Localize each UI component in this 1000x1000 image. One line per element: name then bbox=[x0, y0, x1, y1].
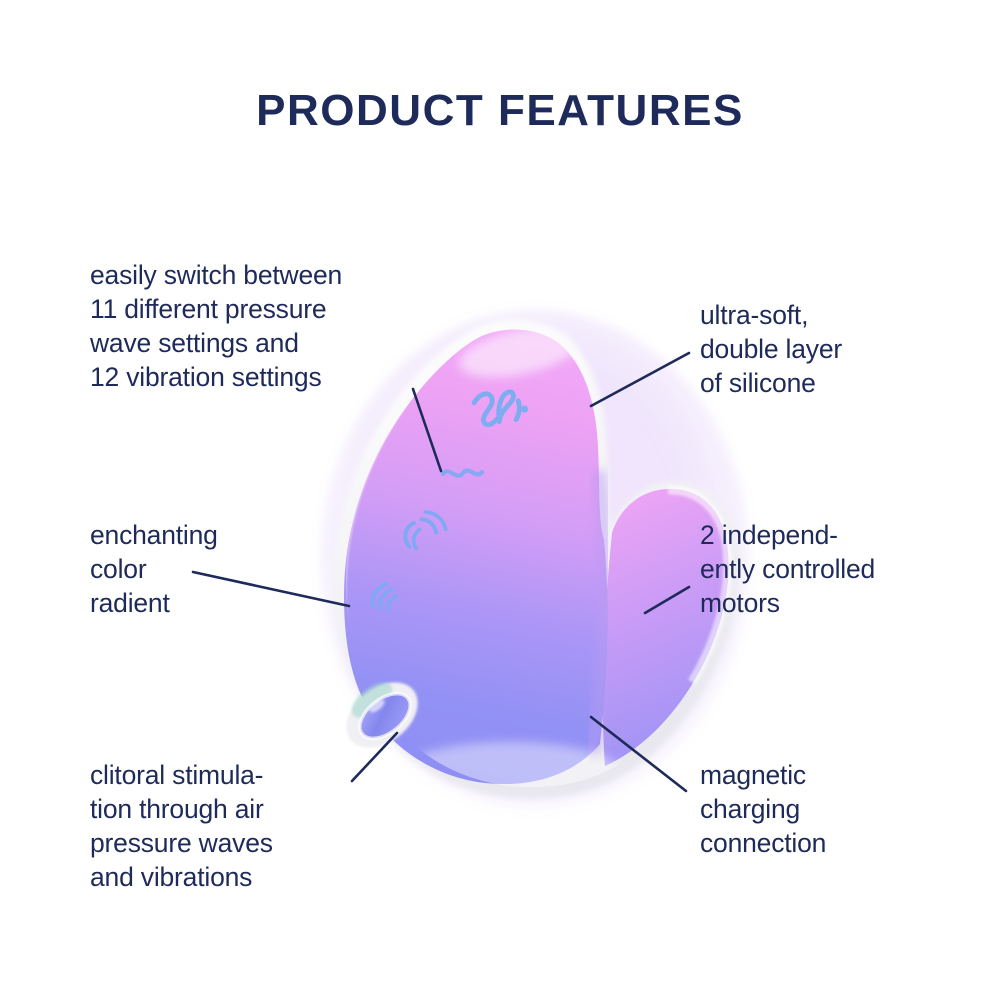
leader-line-motors bbox=[645, 587, 689, 613]
callout-gradient-line-2: color bbox=[90, 552, 370, 586]
callout-magnetic-line-1: magnetic bbox=[700, 758, 950, 792]
callout-clitoral-line-4: and vibrations bbox=[90, 860, 390, 894]
callout-clitoral-line-2: tion through air bbox=[90, 792, 390, 826]
callout-motors: 2 independ- ently controlled motors bbox=[700, 518, 950, 620]
callout-clitoral-line-3: pressure waves bbox=[90, 826, 390, 860]
callout-silicone-line-2: double layer bbox=[700, 332, 950, 366]
product-features-infographic: PRODUCT FEATURES bbox=[0, 0, 1000, 1000]
callout-silicone-line-3: of silicone bbox=[700, 366, 950, 400]
callout-motors-line-1: 2 independ- bbox=[700, 518, 950, 552]
callout-gradient: enchanting color radient bbox=[90, 518, 370, 620]
callout-settings-line-4: 12 vibration settings bbox=[90, 360, 420, 394]
leader-line-magnetic bbox=[591, 717, 686, 791]
callout-clitoral: clitoral stimula- tion through air press… bbox=[90, 758, 390, 894]
callout-settings: easily switch between 11 different press… bbox=[90, 258, 420, 394]
callout-gradient-line-1: enchanting bbox=[90, 518, 370, 552]
callout-motors-line-3: motors bbox=[700, 586, 950, 620]
callout-gradient-line-3: radient bbox=[90, 586, 370, 620]
callout-magnetic-line-3: connection bbox=[700, 826, 950, 860]
leader-line-settings bbox=[413, 389, 441, 471]
callout-settings-line-3: wave settings and bbox=[90, 326, 420, 360]
callout-magnetic: magnetic charging connection bbox=[700, 758, 950, 860]
callout-settings-line-1: easily switch between bbox=[90, 258, 420, 292]
callout-motors-line-2: ently controlled bbox=[700, 552, 950, 586]
callout-clitoral-line-1: clitoral stimula- bbox=[90, 758, 390, 792]
callout-silicone-line-1: ultra-soft, bbox=[700, 298, 950, 332]
callout-settings-line-2: 11 different pressure bbox=[90, 292, 420, 326]
leader-line-silicone bbox=[591, 353, 689, 406]
callout-silicone: ultra-soft, double layer of silicone bbox=[700, 298, 950, 400]
callout-magnetic-line-2: charging bbox=[700, 792, 950, 826]
